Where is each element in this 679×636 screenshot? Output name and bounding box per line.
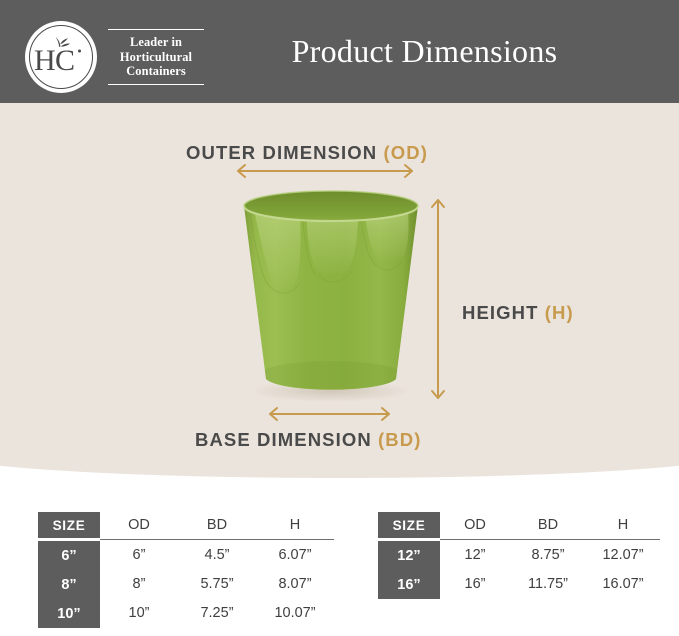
table-cell: 8.07” [256, 576, 334, 592]
table-cell: 6.07” [256, 547, 334, 563]
table-row: 10”7.25”10.07” [100, 598, 334, 627]
table-row: 8”5.75”8.07” [100, 569, 334, 598]
svg-text:C: C [55, 44, 75, 77]
table-cell: 10.07” [256, 605, 334, 621]
base-dimension-label: BASE DIMENSION (BD) [195, 429, 421, 451]
size-cell: 12” [378, 541, 440, 570]
table-cell: 12” [440, 547, 510, 563]
spec-table-large: SIZE12”16”ODBDH12”8.75”12.07”16”11.75”16… [378, 512, 641, 599]
size-cell: 6” [38, 541, 100, 570]
column-header: H [586, 517, 660, 533]
table-cell: 8.75” [510, 547, 586, 563]
table-row: 16”11.75”16.07” [440, 569, 660, 598]
table-cell: 11.75” [510, 576, 586, 592]
column-header: H [256, 517, 334, 533]
height-arrow-icon [430, 193, 446, 405]
outer-dimension-text: OUTER DIMENSION [186, 142, 383, 163]
base-dimension-arrow-icon [262, 406, 397, 422]
base-dimension-text: BASE DIMENSION [195, 429, 378, 450]
table-cell: 4.5” [178, 547, 256, 563]
data-columns: ODBDH12”8.75”12.07”16”11.75”16.07” [440, 512, 660, 598]
outer-dimension-arrow-icon [230, 163, 420, 179]
page-title: Product Dimensions [0, 0, 679, 103]
table-cell: 7.25” [178, 605, 256, 621]
table-header-row: ODBDH [100, 512, 334, 538]
hc-monogram-icon: H C [33, 34, 89, 80]
header-bar: H C Leader in Horticultural Containers P… [0, 0, 679, 103]
column-header: BD [178, 517, 256, 533]
outer-dimension-abbr: (OD) [383, 142, 427, 163]
column-header-size: SIZE [38, 512, 100, 538]
table-cell: 12.07” [586, 547, 660, 563]
size-cell: 16” [378, 570, 440, 599]
table-cell: 8” [100, 576, 178, 592]
height-abbr: (H) [545, 302, 574, 323]
table-cell: 16” [440, 576, 510, 592]
height-label: HEIGHT (H) [462, 302, 574, 324]
column-header: BD [510, 517, 586, 533]
size-cell: 10” [38, 599, 100, 628]
base-dimension-abbr: (BD) [378, 429, 421, 450]
table-row: 12”8.75”12.07” [440, 540, 660, 569]
spec-table-small: SIZE6”8”10”ODBDH6”4.5”6.07”8”5.75”8.07”1… [38, 512, 328, 628]
height-text: HEIGHT [462, 302, 545, 323]
table-cell: 16.07” [586, 576, 660, 592]
size-column: SIZE6”8”10” [38, 512, 100, 628]
table-cell: 5.75” [178, 576, 256, 592]
column-header: OD [100, 517, 178, 533]
diagram-panel: OUTER DIMENSION (OD) [0, 103, 679, 493]
table-cell: 6” [100, 547, 178, 563]
size-cell: 8” [38, 570, 100, 599]
svg-text:H: H [34, 44, 56, 77]
table-header-row: ODBDH [440, 512, 660, 538]
table-cell: 10” [100, 605, 178, 621]
outer-dimension-label: OUTER DIMENSION (OD) [186, 142, 428, 164]
size-column: SIZE12”16” [378, 512, 440, 599]
column-header: OD [440, 517, 510, 533]
data-columns: ODBDH6”4.5”6.07”8”5.75”8.07”10”7.25”10.0… [100, 512, 334, 627]
table-row: 6”4.5”6.07” [100, 540, 334, 569]
column-header-size: SIZE [378, 512, 440, 538]
planter-pot-illustration [236, 189, 426, 404]
